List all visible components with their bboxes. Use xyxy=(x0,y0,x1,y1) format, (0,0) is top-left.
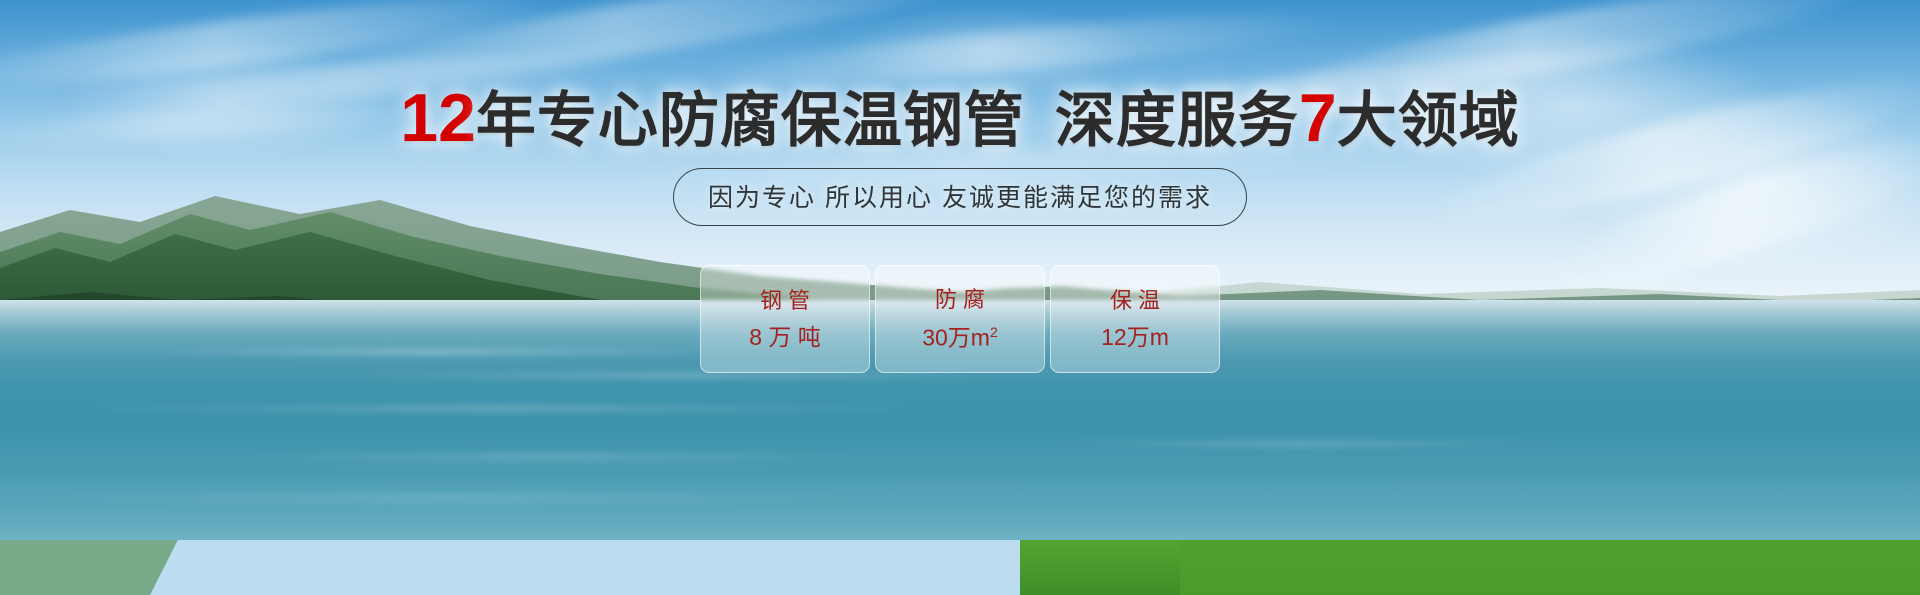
headline-years-number: 12 xyxy=(400,80,476,156)
stat-card-value: 30万m2 xyxy=(922,325,998,350)
stat-card-insulation[interactable]: 保温 12万m xyxy=(1050,265,1220,373)
headline-part-3: 大领域 xyxy=(1337,87,1520,154)
stat-card-value-main: 30万m xyxy=(922,324,990,350)
subtitle-pill: 因为专心 所以用心 友诚更能满足您的需求 xyxy=(673,168,1247,226)
stat-card-group: 钢管 8 万 吨 防腐 30万m2 保温 12万m xyxy=(0,265,1920,373)
stat-card-value: 8 万 吨 xyxy=(749,326,821,349)
water-highlight xyxy=(0,492,900,504)
water-highlight xyxy=(1040,440,1560,448)
water-highlight xyxy=(200,452,900,462)
water-highlight xyxy=(60,404,940,413)
stat-card-value-superscript: 2 xyxy=(990,324,998,340)
stat-card-value: 12万m xyxy=(1101,326,1169,349)
headline-fields-number: 7 xyxy=(1299,80,1337,156)
stat-card-anticorrosion[interactable]: 防腐 30万m2 xyxy=(875,265,1045,373)
subtitle-wrapper: 因为专心 所以用心 友诚更能满足您的需求 xyxy=(0,168,1920,226)
stat-card-label: 保温 xyxy=(1104,290,1166,312)
headline-part-2: 深度服务 xyxy=(1055,87,1299,154)
water-highlight xyxy=(300,372,1060,379)
stat-card-value-main: 8 万 吨 xyxy=(749,324,821,350)
hero-banner: 12年专心防腐保温钢管深度服务7大领域 因为专心 所以用心 友诚更能满足您的需求… xyxy=(0,0,1920,595)
stat-card-steel-pipe[interactable]: 钢管 8 万 吨 xyxy=(700,265,870,373)
stat-card-value-main: 12万m xyxy=(1101,324,1169,350)
stat-card-label: 钢管 xyxy=(754,290,816,312)
headline-part-1: 年专心防腐保温钢管 xyxy=(476,87,1025,154)
page-title: 12年专心防腐保温钢管深度服务7大领域 xyxy=(0,84,1920,152)
stat-card-label: 防腐 xyxy=(929,289,991,311)
